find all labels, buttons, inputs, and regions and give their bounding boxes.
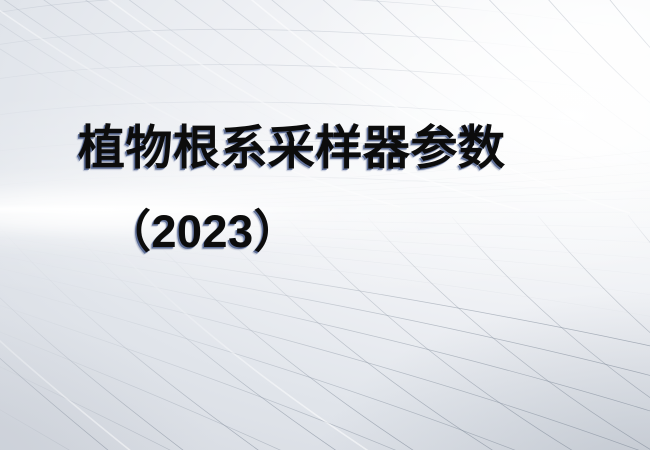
title-slide: 植物根系采样器参数 （2023） <box>0 0 650 450</box>
slide-title-line-1: 植物根系采样器参数 <box>0 119 650 177</box>
title-block: 植物根系采样器参数 （2023） <box>0 119 650 261</box>
slide-title-line-2: （2023） <box>0 203 650 261</box>
